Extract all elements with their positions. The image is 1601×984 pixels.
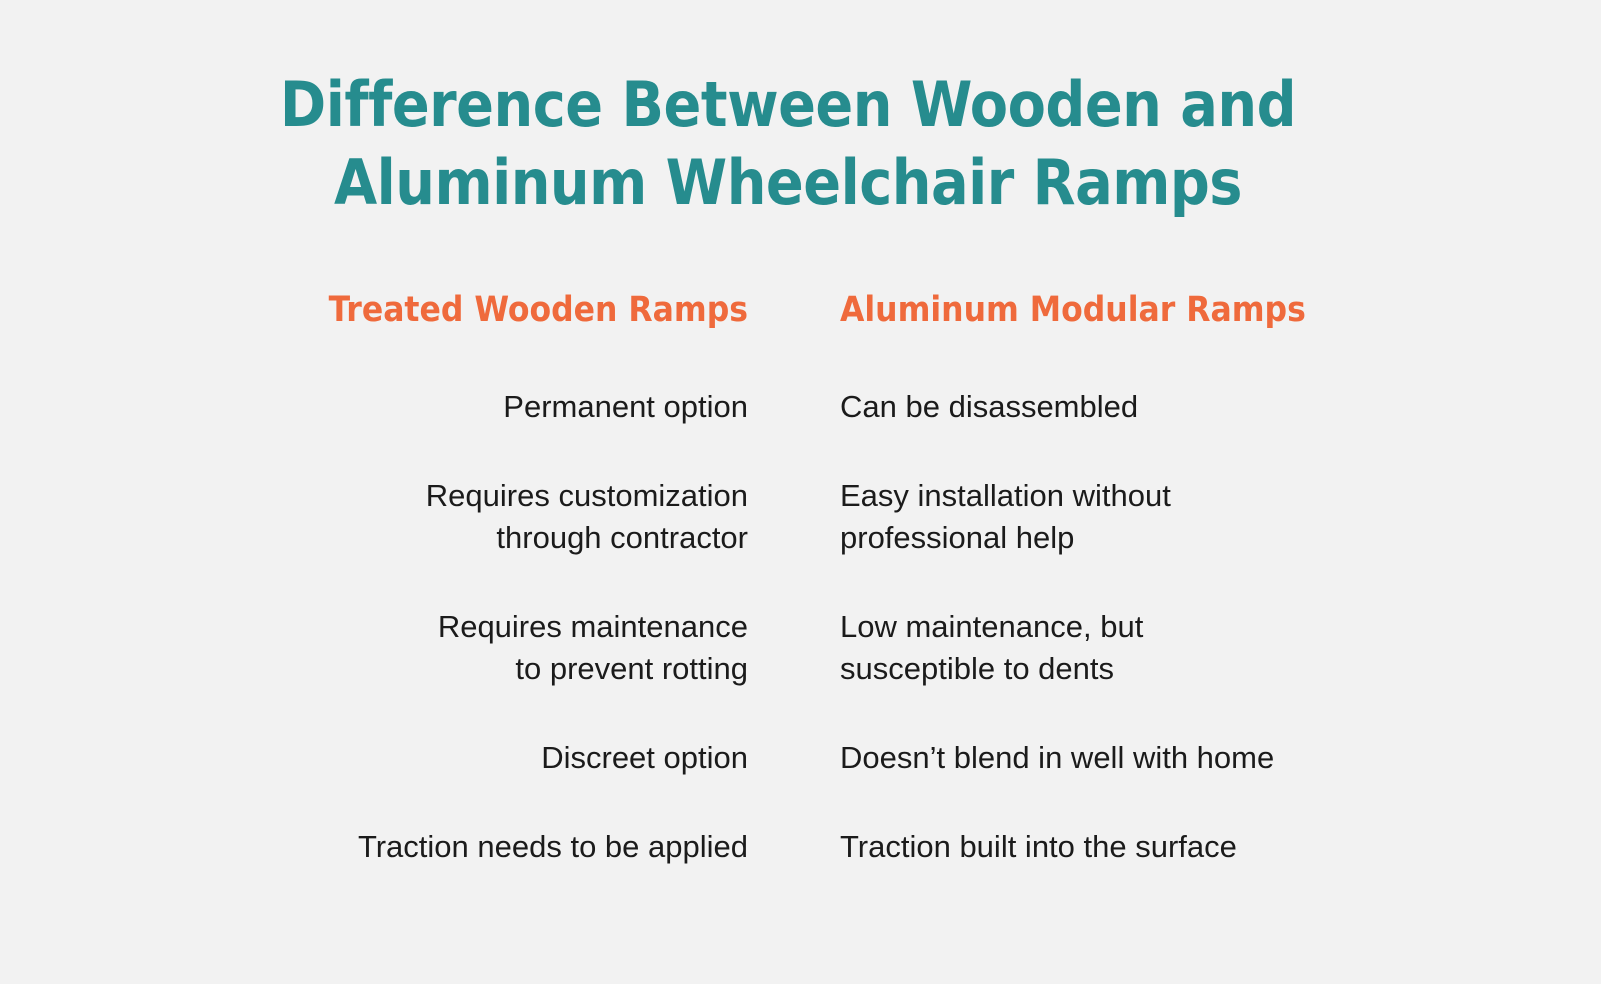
table-row: Permanent option Can be disassembled (0, 386, 1601, 428)
column-header-aluminum: Aluminum Modular Ramps (748, 288, 1601, 332)
table-header-row: Treated Wooden Ramps Aluminum Modular Ra… (0, 288, 1601, 332)
cell-line-1: Discreet option (0, 737, 748, 779)
comparison-table: Treated Wooden Ramps Aluminum Modular Ra… (0, 288, 1601, 868)
row-1-aluminum-cell: Can be disassembled (748, 386, 1601, 428)
cell-line-2: to prevent rotting (0, 648, 748, 690)
cell-line-2: susceptible to dents (840, 648, 1601, 690)
cell-text: Low maintenance, but susceptible to dent… (840, 606, 1601, 690)
cell-text: Requires customization through contracto… (0, 475, 748, 559)
comparison-infographic: Difference Between Wooden and Aluminum W… (0, 0, 1601, 984)
cell-line-1: Doesn’t blend in well with home (840, 737, 1601, 779)
page-title-line-1: Difference Between Wooden and (0, 66, 1576, 144)
cell-line-1: Low maintenance, but (840, 606, 1601, 648)
row-4-aluminum-cell: Doesn’t blend in well with home (748, 737, 1601, 779)
row-5-aluminum-cell: Traction built into the surface (748, 826, 1601, 868)
cell-text: Traction built into the surface (840, 826, 1601, 868)
row-2-aluminum-cell: Easy installation without professional h… (748, 475, 1601, 559)
table-row: Requires maintenance to prevent rotting … (0, 606, 1601, 690)
cell-line-1: Traction needs to be applied (0, 826, 748, 868)
row-1-wooden-cell: Permanent option (0, 386, 748, 428)
table-row: Discreet option Doesn’t blend in well wi… (0, 737, 1601, 779)
table-row: Traction needs to be applied Traction bu… (0, 826, 1601, 868)
cell-line-1: Can be disassembled (840, 386, 1601, 428)
cell-line-1: Easy installation without (840, 475, 1601, 517)
cell-text: Permanent option (0, 386, 748, 428)
cell-text: Easy installation without professional h… (840, 475, 1601, 559)
cell-line-2: professional help (840, 517, 1601, 559)
cell-line-1: Permanent option (0, 386, 748, 428)
row-5-wooden-cell: Traction needs to be applied (0, 826, 748, 868)
page-title-line-2: Aluminum Wheelchair Ramps (0, 144, 1576, 222)
cell-line-1: Requires customization (0, 475, 748, 517)
table-row: Requires customization through contracto… (0, 475, 1601, 559)
row-2-wooden-cell: Requires customization through contracto… (0, 475, 748, 559)
cell-text: Traction needs to be applied (0, 826, 748, 868)
column-header-wooden: Treated Wooden Ramps (0, 288, 748, 332)
cell-line-1: Traction built into the surface (840, 826, 1601, 868)
cell-text: Discreet option (0, 737, 748, 779)
cell-text: Can be disassembled (840, 386, 1601, 428)
row-3-wooden-cell: Requires maintenance to prevent rotting (0, 606, 748, 690)
row-3-aluminum-cell: Low maintenance, but susceptible to dent… (748, 606, 1601, 690)
cell-line-1: Requires maintenance (0, 606, 748, 648)
row-4-wooden-cell: Discreet option (0, 737, 748, 779)
cell-line-2: through contractor (0, 517, 748, 559)
cell-text: Requires maintenance to prevent rotting (0, 606, 748, 690)
page-title: Difference Between Wooden and Aluminum W… (0, 66, 1576, 222)
cell-text: Doesn’t blend in well with home (840, 737, 1601, 779)
